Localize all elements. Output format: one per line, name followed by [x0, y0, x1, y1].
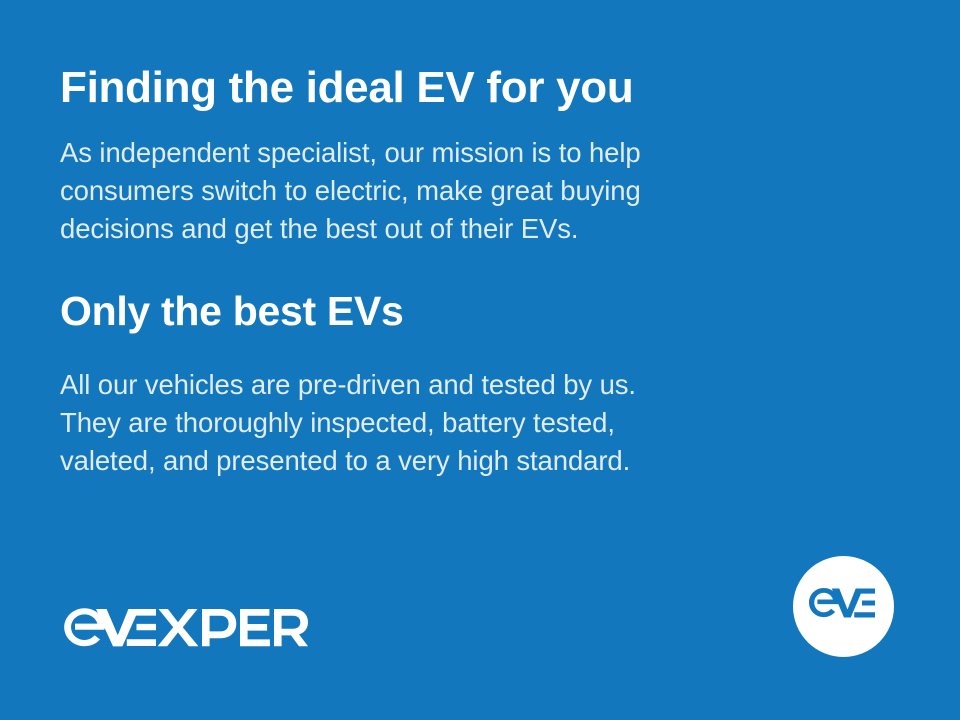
- paragraph-line: consumers switch to electric, make great…: [60, 172, 820, 210]
- paragraph-line: decisions and get the best out of their …: [60, 210, 820, 248]
- ev-experts-wordmark-logo: evEXPERTS: [60, 602, 308, 650]
- eve-circle-badge-logo: eVE: [793, 556, 894, 657]
- paragraph-line: valeted, and presented to a very high st…: [60, 442, 820, 480]
- slide-canvas: Finding the ideal EV for you As independ…: [0, 0, 960, 720]
- intro-paragraph: As independent specialist, our mission i…: [60, 134, 820, 248]
- page-title: Finding the ideal EV for you: [60, 62, 850, 114]
- paragraph-line: They are thoroughly inspected, battery t…: [60, 404, 820, 442]
- section-title-quality: Only the best EVs: [60, 286, 850, 336]
- paragraph-line: As independent specialist, our mission i…: [60, 134, 820, 172]
- quality-paragraph: All our vehicles are pre-driven and test…: [60, 366, 820, 480]
- paragraph-line: All our vehicles are pre-driven and test…: [60, 366, 820, 404]
- slide-content: Finding the ideal EV for you As independ…: [60, 62, 850, 480]
